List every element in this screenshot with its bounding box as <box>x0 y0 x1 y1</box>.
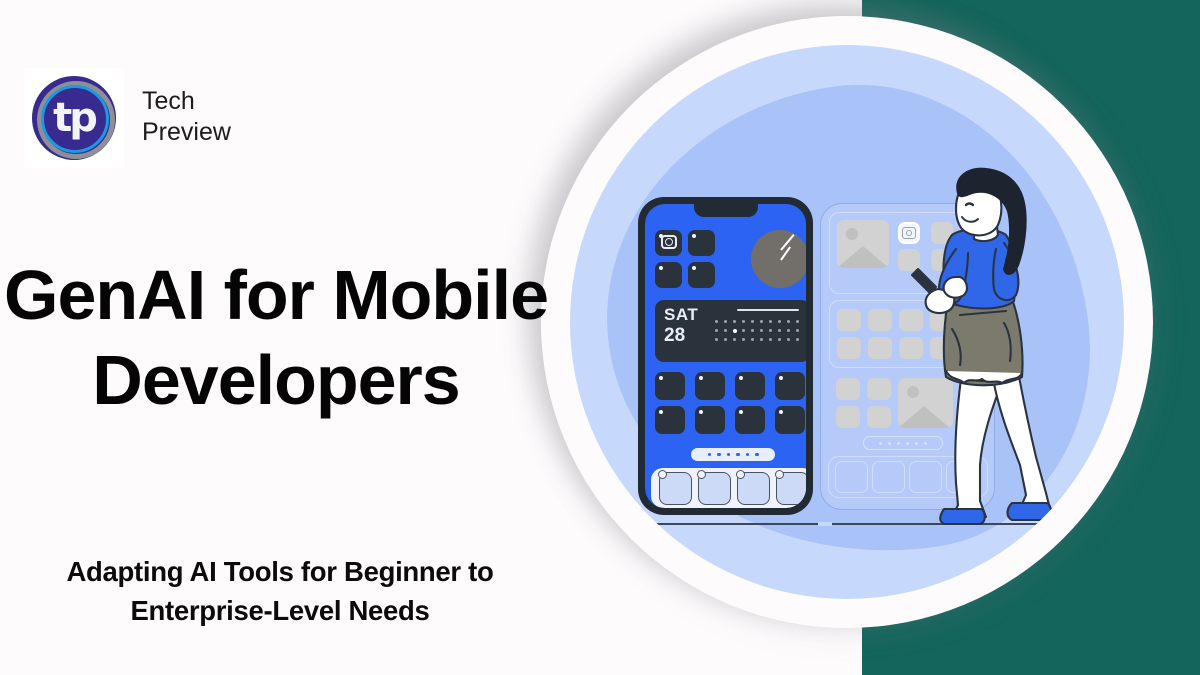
calendar-dot <box>796 338 799 341</box>
app-icon <box>688 262 715 288</box>
calendar-dot <box>760 320 763 323</box>
ghost-tile <box>868 337 892 359</box>
phone-screen: SAT 28 <box>645 204 806 508</box>
ghost-tile <box>836 378 860 400</box>
calendar-dot <box>796 320 799 323</box>
calendar-dot <box>751 329 754 332</box>
tp-logo-icon: tp <box>32 76 116 160</box>
calendar-dot <box>787 338 790 341</box>
calendar-dot <box>778 320 781 323</box>
calendar-dot <box>733 329 737 333</box>
app-icon <box>775 372 805 400</box>
dock-app <box>776 472 806 505</box>
calendar-dot <box>724 320 727 323</box>
calendar-dot <box>733 320 736 323</box>
ghost-dock-app <box>835 461 868 493</box>
app-icon-camera <box>655 230 682 256</box>
app-icon <box>655 262 682 288</box>
circle-inner-blue: SAT 28 <box>570 45 1124 599</box>
app-grid <box>655 372 806 436</box>
ghost-tile <box>867 378 891 400</box>
calendar-dot <box>769 320 772 323</box>
widget-row-top <box>655 230 806 290</box>
brand-logo-box: tp <box>24 68 124 168</box>
calendar-dot <box>778 338 781 341</box>
logo-monogram: tp <box>53 98 95 138</box>
app-icon <box>695 372 725 400</box>
ghost-tile <box>837 337 861 359</box>
calendar-dot <box>787 320 790 323</box>
app-icon <box>735 372 765 400</box>
ghost-tile <box>836 406 860 428</box>
page-subtitle: Adapting AI Tools for Beginner to Enterp… <box>0 552 560 630</box>
calendar-dot <box>742 338 745 341</box>
app-icon <box>655 406 685 434</box>
app-icon <box>688 230 715 256</box>
calendar-day-label: SAT <box>664 306 698 324</box>
calendar-dot <box>742 329 745 332</box>
phone-notch <box>694 204 758 217</box>
calendar-dot <box>715 329 718 332</box>
ghost-image-tile <box>837 220 889 268</box>
clock-widget <box>751 230 806 288</box>
app-icon <box>695 406 725 434</box>
app-icon <box>655 372 685 400</box>
brand-name: Tech Preview <box>142 86 322 147</box>
calendar-dot <box>742 320 745 323</box>
ground-gap <box>818 522 832 526</box>
calendar-dot <box>787 329 790 332</box>
calendar-dot <box>724 329 727 332</box>
calendar-dot <box>715 338 718 341</box>
app-icon <box>775 406 805 434</box>
ghost-tile <box>868 309 892 331</box>
page-title: GenAI for Mobile Developers <box>0 253 552 424</box>
phone-device: SAT 28 <box>638 197 813 515</box>
calendar-divider <box>737 309 799 311</box>
calendar-date-label: 28 <box>664 326 685 346</box>
calendar-dot <box>733 338 736 341</box>
calendar-dot <box>751 338 754 341</box>
ghost-tile <box>867 406 891 428</box>
page-dots <box>691 448 775 461</box>
calendar-dot <box>724 338 727 341</box>
calendar-dot <box>796 329 799 332</box>
dock-app <box>659 472 692 505</box>
camera-icon <box>661 235 677 249</box>
slide-canvas: SAT 28 <box>0 0 1200 675</box>
calendar-dot <box>778 329 781 332</box>
calendar-dot <box>760 338 763 341</box>
ghost-tile <box>837 309 861 331</box>
calendar-dot <box>769 338 772 341</box>
calendar-widget: SAT 28 <box>655 300 806 362</box>
calendar-dot <box>751 320 754 323</box>
calendar-dot <box>760 329 763 332</box>
calendar-dot <box>715 320 718 323</box>
person-illustration <box>900 165 1080 535</box>
calendar-dot <box>769 329 772 332</box>
illustration: SAT 28 <box>570 45 1124 599</box>
phone-dock <box>651 468 806 508</box>
app-icon <box>735 406 765 434</box>
dock-app <box>737 472 770 505</box>
dock-app <box>698 472 731 505</box>
ground-gap <box>606 522 616 526</box>
